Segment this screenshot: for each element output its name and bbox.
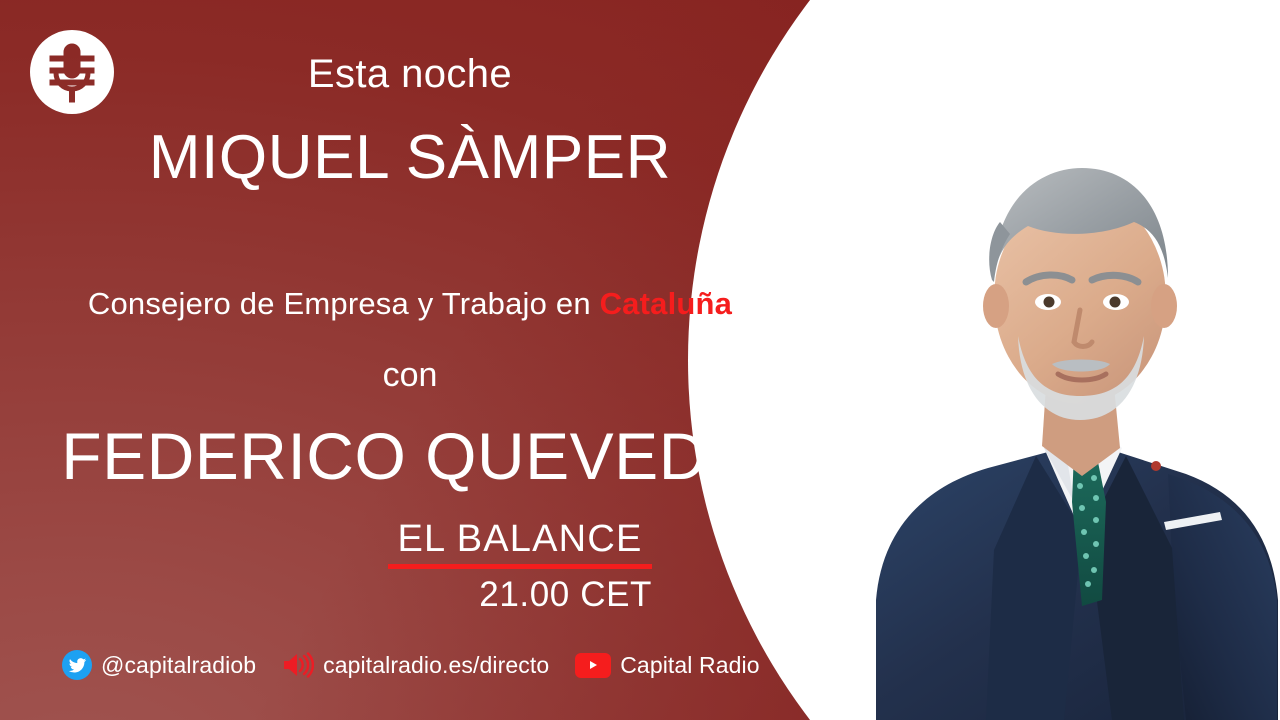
- twitter-icon: [62, 650, 92, 680]
- footer-label-twitter: @capitalradiob: [101, 652, 256, 679]
- guest-portrait: [868, 130, 1280, 720]
- guest-name: MIQUEL SÀMPER: [0, 122, 820, 193]
- promo-poster: Esta noche MIQUEL SÀMPER Consejero de Em…: [0, 0, 1280, 720]
- guest-role-prefix: Consejero de Empresa y Trabajo en: [88, 286, 600, 321]
- footer-item-live[interactable]: capitalradio.es/directo: [282, 650, 549, 680]
- footer-label-youtube: Capital Radio: [620, 652, 759, 679]
- host-name: FEDERICO QUEVEDO: [0, 418, 820, 494]
- footer-item-twitter[interactable]: @capitalradiob: [62, 650, 256, 680]
- footer-label-live: capitalradio.es/directo: [323, 652, 549, 679]
- social-footer: @capitalradiob capitalradio.es/directo C…: [62, 650, 760, 680]
- speaker-icon: [282, 650, 314, 680]
- guest-role: Consejero de Empresa y Trabajo en Catalu…: [0, 286, 820, 322]
- kicker-text: Esta noche: [0, 52, 820, 97]
- host-connector: con: [0, 356, 820, 395]
- program-title: EL BALANCE: [388, 520, 652, 560]
- program-title-underline: [388, 564, 652, 569]
- program-block: EL BALANCE 21.00 CET: [388, 520, 652, 615]
- guest-role-highlight: Cataluña: [600, 286, 733, 321]
- program-time: 21.00 CET: [388, 575, 652, 615]
- footer-item-youtube[interactable]: Capital Radio: [575, 652, 759, 679]
- youtube-icon: [575, 653, 611, 678]
